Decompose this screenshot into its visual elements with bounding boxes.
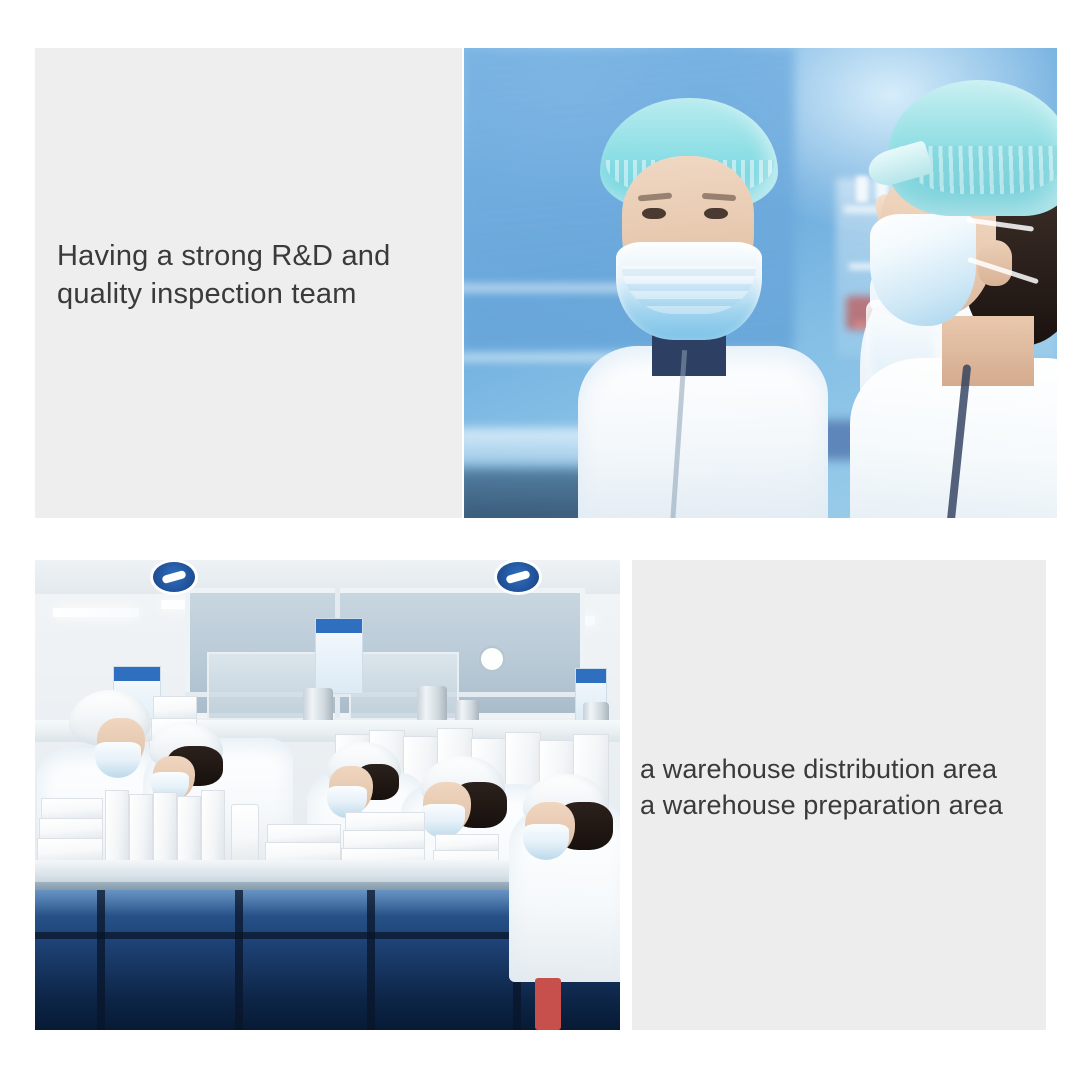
- under-leg: [367, 890, 375, 1030]
- table-box: [177, 796, 201, 864]
- under-leg: [97, 890, 105, 1030]
- notice-board: [315, 618, 363, 694]
- table-box: [41, 798, 103, 820]
- table-box: [39, 818, 103, 840]
- red-item: [535, 978, 561, 1030]
- table-box: [37, 838, 103, 862]
- section-rnd-quality: Having a strong R&D and quality inspecti…: [35, 48, 1057, 518]
- table-box: [105, 790, 129, 864]
- stacked-box: [153, 696, 197, 720]
- table-box: [345, 812, 425, 832]
- lab-technician-right: [846, 72, 1057, 518]
- under-leg: [235, 890, 243, 1030]
- table-box: [201, 790, 225, 864]
- company-logo-icon: [497, 562, 539, 592]
- eye: [704, 208, 728, 219]
- photo-lab-inspection: [464, 48, 1057, 518]
- bottle: [231, 804, 259, 864]
- table-box: [267, 824, 341, 844]
- ceiling-light: [53, 608, 139, 617]
- caption-rnd-quality: Having a strong R&D and quality inspecti…: [57, 237, 457, 313]
- caption-panel-top: Having a strong R&D and quality inspecti…: [35, 48, 462, 518]
- caption-panel-bottom: a warehouse distribution area a warehous…: [632, 560, 1046, 1030]
- eye: [642, 208, 666, 219]
- table-box: [129, 794, 153, 864]
- face-mask: [616, 242, 762, 340]
- wall-clock-icon: [479, 646, 505, 672]
- face-mask: [870, 214, 976, 326]
- neck: [942, 316, 1034, 386]
- slide-canvas: Having a strong R&D and quality inspecti…: [0, 0, 1080, 1080]
- section-warehouse: a warehouse distribution area a warehous…: [35, 560, 1046, 1030]
- caption-warehouse: a warehouse distribution area a warehous…: [640, 751, 1046, 823]
- photo-warehouse-packing: [35, 560, 620, 1030]
- company-logo-icon: [153, 562, 195, 592]
- table-box: [343, 830, 425, 850]
- table-box: [153, 792, 177, 864]
